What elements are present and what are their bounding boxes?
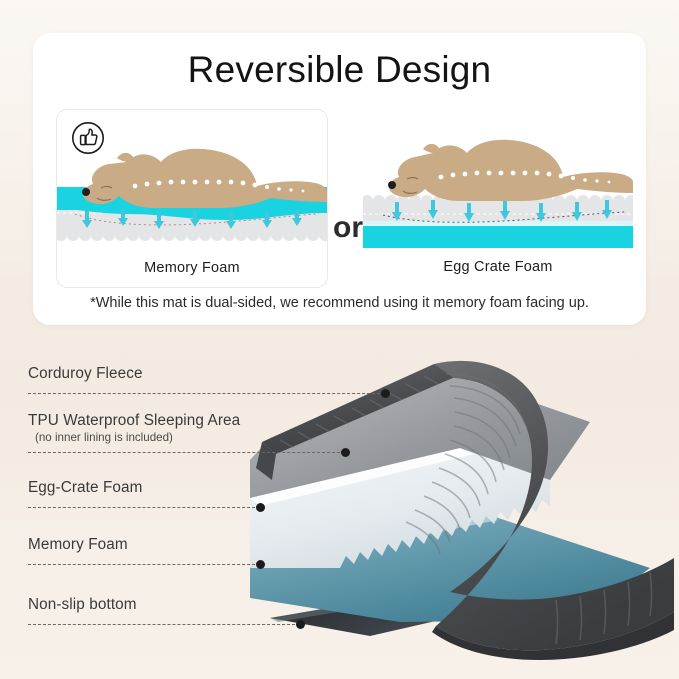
leader-line-corduroy-fleece [28,393,385,395]
panel-label-egg-crate-foam: Egg Crate Foam [363,259,633,275]
leader-dot-nonslip-bottom [296,620,305,629]
infographic-page: Reversible Design [0,0,679,679]
leader-dot-egg-crate-foam [256,503,265,512]
egg-crate-foam-illustration [363,109,633,259]
leader-dot-corduroy-fleece [381,389,390,398]
panel-memory-foam-up: Memory Foam [56,109,328,288]
leader-dot-tpu-waterproof [341,448,350,457]
callout-label: Egg-Crate Foam [28,479,142,497]
callout-sublabel: (no inner lining is included) [35,431,240,444]
callout-memory-foam: Memory Foam [28,536,128,554]
leader-line-egg-crate-foam [28,507,260,509]
leader-dot-memory-foam [256,560,265,569]
callout-label: Corduroy Fleece [28,365,143,383]
callout-label: Non-slip bottom [28,596,137,614]
callout-nonslip-bottom: Non-slip bottom [28,596,137,614]
panel-label-memory-foam: Memory Foam [57,260,327,276]
leader-line-nonslip-bottom [28,624,300,626]
panel-egg-crate-up: Egg Crate Foam [363,109,633,286]
callout-tpu-waterproof: TPU Waterproof Sleeping Area (no inner l… [28,412,240,444]
leader-line-tpu-waterproof [28,452,345,454]
thumbs-up-icon [71,121,105,155]
callout-corduroy-fleece: Corduroy Fleece [28,365,143,383]
product-layers-illustration [250,330,679,660]
reversible-design-card: Reversible Design [33,33,646,325]
callout-egg-crate-foam: Egg-Crate Foam [28,479,142,497]
callout-label: TPU Waterproof Sleeping Area [28,412,240,430]
callout-label: Memory Foam [28,536,128,554]
dog-illustration [388,140,633,201]
page-title: Reversible Design [33,49,646,91]
leader-line-memory-foam [28,564,260,566]
footnote-text: *While this mat is dual-sided, we recomm… [33,295,646,311]
